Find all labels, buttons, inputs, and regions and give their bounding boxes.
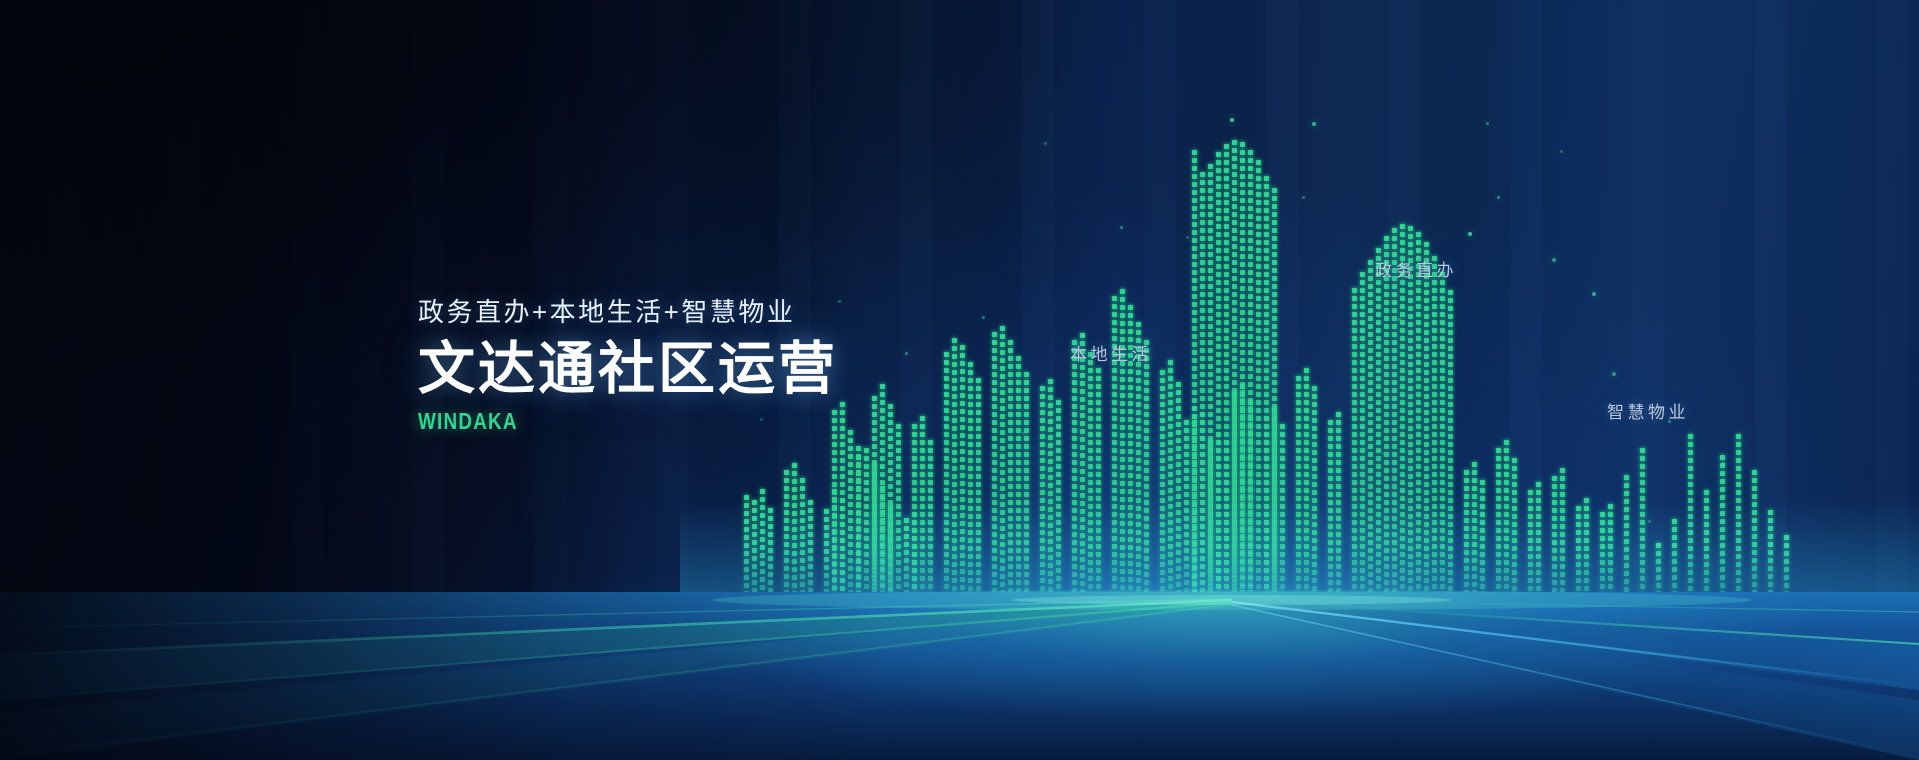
ground-left-shadow [0, 592, 1919, 760]
district-label-smart-property: 智慧物业 [1607, 398, 1689, 423]
hero-copy-block: 政务直办+本地生活+智慧物业 文达通社区运营 WINDAKA [418, 296, 838, 433]
hero-subtitle: 政务直办+本地生活+智慧物业 [418, 296, 838, 329]
district-label-government-service: 政务直办 [1375, 256, 1457, 281]
ground-plane [0, 592, 1919, 760]
brand-wordmark: WINDAKA [418, 410, 762, 433]
district-label-local-life: 本地生活 [1070, 340, 1152, 365]
hero-banner: 本地生活 政务直办 智慧物业 政务直办+本地生活+智慧物业 文达通社区运营 WI… [0, 0, 1919, 760]
hero-title: 文达通社区运营 [418, 339, 838, 401]
